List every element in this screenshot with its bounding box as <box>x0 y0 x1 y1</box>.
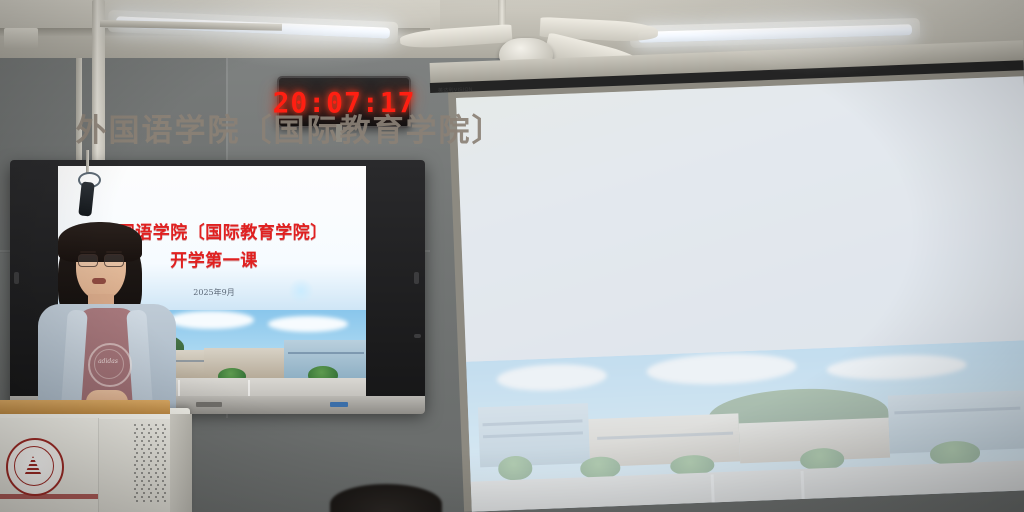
grille-dot <box>150 476 152 478</box>
grille-dot <box>164 452 166 454</box>
grille-dot <box>148 480 150 482</box>
grille-dot <box>148 488 150 490</box>
grille-dot <box>134 480 136 482</box>
grille-dot <box>148 496 150 498</box>
microphone-cable <box>86 150 89 174</box>
grille-dot <box>143 452 145 454</box>
glasses-lens <box>104 254 124 267</box>
grille-dot <box>164 436 166 438</box>
grille-dot <box>157 500 159 502</box>
grille-dot <box>164 444 166 446</box>
grille-dot <box>150 452 152 454</box>
grille-dot <box>141 464 143 466</box>
grille-dot <box>157 476 159 478</box>
grille-dot <box>155 488 157 490</box>
lectern-accent-band <box>0 494 98 499</box>
grille-dot <box>162 456 164 458</box>
grille-dot <box>136 468 138 470</box>
grille-dot <box>150 492 152 494</box>
projector-brand-label: 英达利VISION <box>438 86 473 94</box>
grille-dot <box>141 448 143 450</box>
grille-dot <box>141 440 143 442</box>
grille-dot <box>157 452 159 454</box>
classroom-photo: 20:07:17 外国语学院〔国 <box>0 0 1024 512</box>
lectern-speaker-grille <box>134 424 174 506</box>
grille-dot <box>143 476 145 478</box>
grille-dot <box>162 448 164 450</box>
grille-dot <box>150 444 152 446</box>
grille-dot <box>134 440 136 442</box>
glasses-lens <box>78 254 98 267</box>
grille-dot <box>162 496 164 498</box>
grille-dot <box>136 460 138 462</box>
grille-dot <box>136 500 138 502</box>
grille-dot <box>134 432 136 434</box>
grille-dot <box>134 424 136 426</box>
presenter: adidas <box>38 218 176 428</box>
grille-dot <box>136 436 138 438</box>
grille-dot <box>141 496 143 498</box>
grille-dot <box>157 468 159 470</box>
grille-dot <box>143 492 145 494</box>
grille-dot <box>162 488 164 490</box>
grille-dot <box>143 436 145 438</box>
grille-dot <box>150 428 152 430</box>
presenter-eyebrow <box>80 251 96 253</box>
grille-dot <box>143 444 145 446</box>
grille-dot <box>141 472 143 474</box>
grille-dot <box>155 440 157 442</box>
projected-campus-photo <box>466 340 1024 512</box>
grille-dot <box>164 484 166 486</box>
shirt-brand-text: adidas <box>90 358 126 365</box>
grille-dot <box>148 456 150 458</box>
grille-dot <box>164 460 166 462</box>
grille-dot <box>162 464 164 466</box>
presenter-glasses <box>78 254 124 265</box>
grille-dot <box>136 476 138 478</box>
tv-side-indicator <box>414 334 421 338</box>
grille-dot <box>155 480 157 482</box>
grille-dot <box>157 444 159 446</box>
grille-dot <box>162 472 164 474</box>
grille-dot <box>164 492 166 494</box>
presenter-mouth <box>92 278 106 284</box>
grille-dot <box>155 456 157 458</box>
grille-dot <box>155 464 157 466</box>
grille-dot <box>143 460 145 462</box>
grille-dot <box>134 472 136 474</box>
grille-dot <box>155 432 157 434</box>
grille-dot <box>150 460 152 462</box>
grille-dot <box>157 428 159 430</box>
projection-title-line1: 外国语学院〔国际教育学院〕 <box>60 105 520 150</box>
photo-cloud <box>268 316 348 332</box>
grille-dot <box>141 424 143 426</box>
grille-dot <box>134 464 136 466</box>
grille-dot <box>155 448 157 450</box>
grille-dot <box>148 424 150 426</box>
grille-dot <box>155 496 157 498</box>
grille-dot <box>157 492 159 494</box>
grille-dot <box>141 456 143 458</box>
grille-dot <box>150 484 152 486</box>
grille-dot <box>148 464 150 466</box>
photo-window-row <box>288 352 364 354</box>
grille-dot <box>164 428 166 430</box>
tv-side-indicator <box>414 272 419 284</box>
grille-dot <box>136 452 138 454</box>
photo-building <box>204 348 288 378</box>
tv-side-indicator <box>14 272 19 284</box>
projection-screen-surface <box>456 76 1024 511</box>
grille-dot <box>162 424 164 426</box>
grille-dot <box>141 432 143 434</box>
grille-dot <box>134 488 136 490</box>
tv-control-mark[interactable] <box>196 402 222 407</box>
grille-dot <box>162 480 164 482</box>
grille-dot <box>155 424 157 426</box>
grille-dot <box>143 484 145 486</box>
grille-dot <box>157 460 159 462</box>
grille-dot <box>148 448 150 450</box>
grille-dot <box>141 480 143 482</box>
grille-dot <box>143 468 145 470</box>
grille-dot <box>150 436 152 438</box>
grille-dot <box>143 428 145 430</box>
tv-power-indicator <box>330 402 348 407</box>
grille-dot <box>143 500 145 502</box>
grille-dot <box>134 496 136 498</box>
grille-dot <box>134 456 136 458</box>
photo-cloud <box>168 311 254 329</box>
grille-dot <box>164 500 166 502</box>
grille-dot <box>136 444 138 446</box>
grille-dot <box>136 428 138 430</box>
photo-tree <box>498 455 533 480</box>
grille-dot <box>148 472 150 474</box>
grille-dot <box>150 500 152 502</box>
grille-dot <box>157 436 159 438</box>
wall-vent <box>4 28 38 48</box>
grille-dot <box>148 432 150 434</box>
grille-dot <box>136 492 138 494</box>
presenter-eyebrow <box>106 251 122 253</box>
grille-dot <box>136 484 138 486</box>
grille-dot <box>164 476 166 478</box>
grille-dot <box>157 484 159 486</box>
fan-pole <box>498 0 506 26</box>
grille-dot <box>155 472 157 474</box>
grille-dot <box>148 440 150 442</box>
grille-dot <box>164 468 166 470</box>
grille-dot <box>150 468 152 470</box>
grille-dot <box>134 448 136 450</box>
grille-dot <box>141 488 143 490</box>
grille-dot <box>162 440 164 442</box>
grille-dot <box>162 432 164 434</box>
